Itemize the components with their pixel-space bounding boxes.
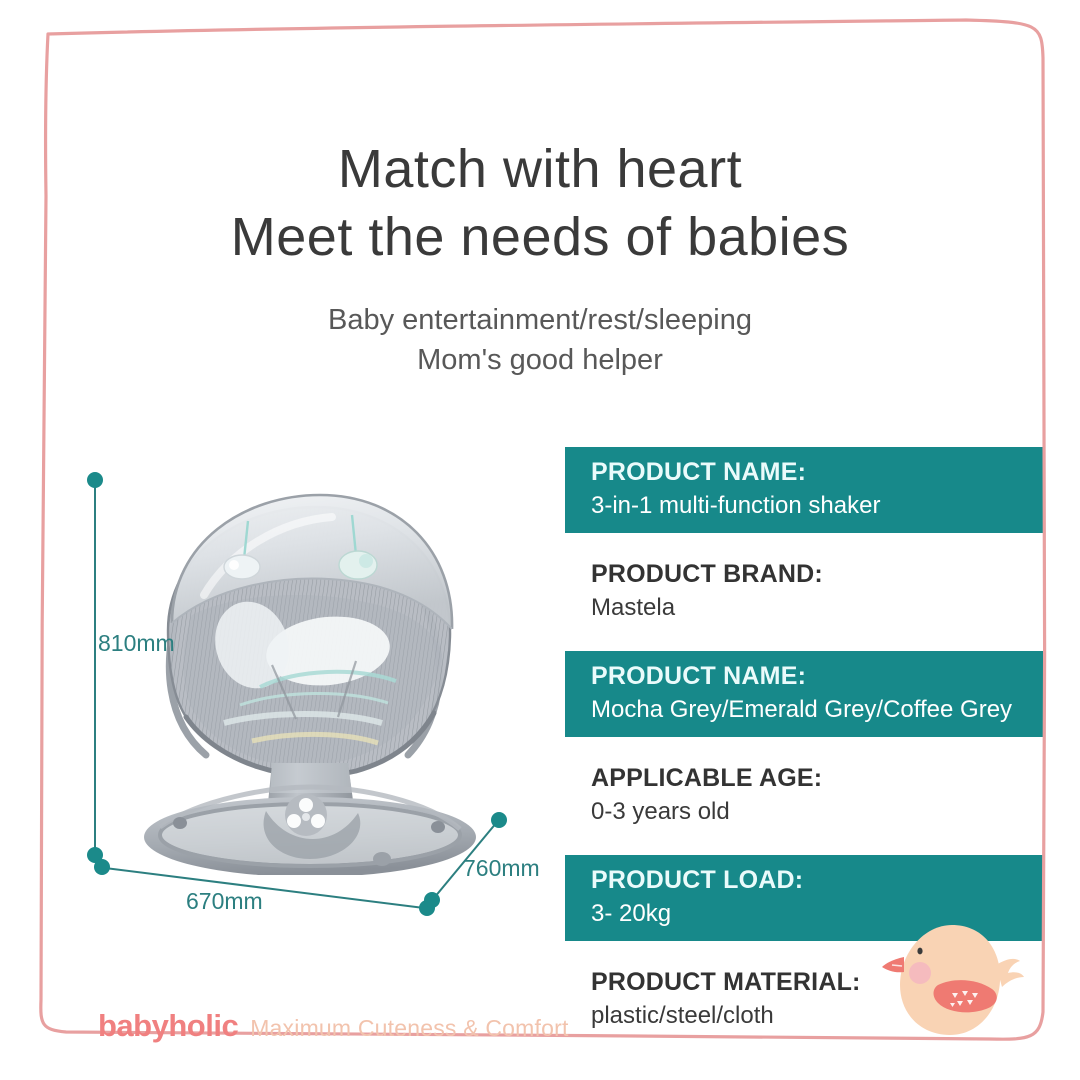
spec-divider (565, 635, 1043, 651)
spec-value: 0-3 years old (591, 795, 1043, 828)
spec-row: PRODUCT BRAND: Mastela (565, 549, 1043, 635)
spec-row: APPLICABLE AGE: 0-3 years old (565, 753, 1043, 839)
spec-divider (565, 839, 1043, 855)
infographic-page: Match with heart Meet the needs of babie… (0, 0, 1080, 1080)
spec-value: Mastela (591, 591, 1043, 624)
spec-key: PRODUCT NAME: (591, 660, 1043, 693)
subheadline-line-1: Baby entertainment/rest/sleeping (0, 300, 1080, 340)
spec-key: PRODUCT NAME: (591, 456, 1043, 489)
headline-line-1: Match with heart (0, 136, 1080, 202)
spec-divider (565, 533, 1043, 549)
spec-value: Mocha Grey/Emerald Grey/Coffee Grey (591, 693, 1043, 726)
spec-row: PRODUCT NAME: Mocha Grey/Emerald Grey/Co… (565, 651, 1043, 737)
brand-tagline: Maximum Cuteness & Comfort (250, 1015, 568, 1042)
duck-mascot-icon (880, 915, 1030, 1050)
spec-divider (565, 737, 1043, 753)
footer-branding: babyholic Maximum Cuteness & Comfort (98, 1008, 569, 1044)
control-panel-icon (285, 794, 327, 836)
spec-value: 3-in-1 multi-function shaker (591, 489, 1043, 522)
dimension-label-depth: 760mm (463, 855, 540, 882)
dimension-label-height: 810mm (98, 630, 175, 657)
headline-line-2: Meet the needs of babies (0, 204, 1080, 270)
dimension-label-width: 670mm (186, 888, 263, 915)
baby-swing-rocker-photo (120, 455, 500, 875)
spec-key: APPLICABLE AGE: (591, 762, 1043, 795)
spec-row: PRODUCT NAME: 3-in-1 multi-function shak… (565, 447, 1043, 533)
spec-key: PRODUCT LOAD: (591, 864, 1043, 897)
brand-name: babyholic (98, 1008, 238, 1044)
subheadline-line-2: Mom's good helper (0, 340, 1080, 380)
spec-key: PRODUCT BRAND: (591, 558, 1043, 591)
